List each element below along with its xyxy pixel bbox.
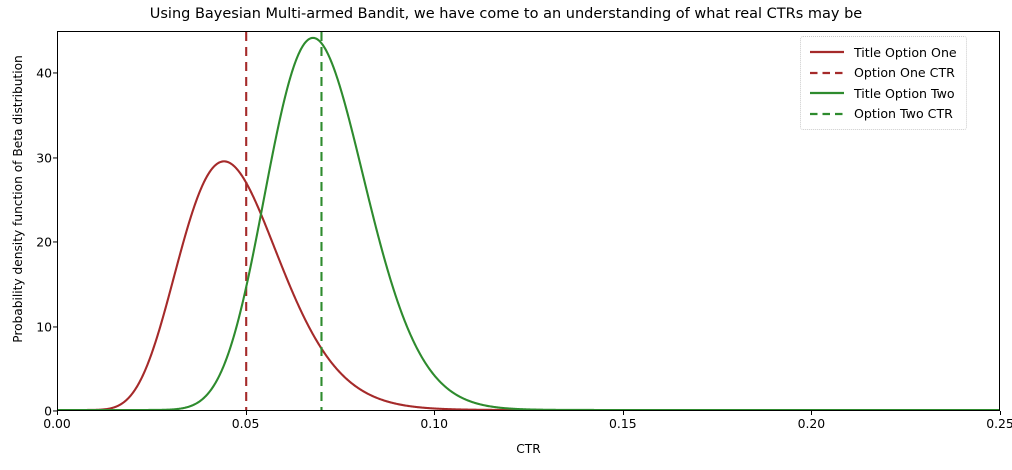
legend-line-icon: [809, 46, 845, 58]
legend-item-label: Title Option Two: [854, 86, 955, 101]
curve-title-option-one: [58, 161, 999, 410]
figure-canvas: Using Bayesian Multi-armed Bandit, we ha…: [0, 0, 1012, 470]
legend-item-label: Title Option One: [854, 45, 957, 60]
x-tick-mark: [434, 411, 435, 415]
x-tick-label: 0.05: [206, 416, 286, 431]
y-tick-label: 10: [0, 319, 52, 334]
y-tick-label: 20: [0, 235, 52, 250]
x-tick-mark: [811, 411, 812, 415]
chart-title: Using Bayesian Multi-armed Bandit, we ha…: [0, 6, 1012, 22]
x-tick-mark: [1000, 411, 1001, 415]
x-tick-label: 0.20: [771, 416, 851, 431]
legend-line-icon: [809, 108, 845, 120]
x-tick-mark: [246, 411, 247, 415]
y-tick-mark: [53, 326, 57, 327]
legend-item[interactable]: Title Option One: [809, 42, 957, 63]
y-tick-label: 40: [0, 66, 52, 81]
x-tick-label: 0.10: [394, 416, 474, 431]
chart-legend[interactable]: Title Option OneOption One CTRTitle Opti…: [800, 36, 967, 130]
y-tick-mark: [53, 157, 57, 158]
legend-item-label: Option Two CTR: [854, 106, 953, 121]
y-axis-label: Probability density function of Beta dis…: [11, 0, 25, 399]
legend-line-icon: [809, 87, 845, 99]
y-tick-label: 30: [0, 150, 52, 165]
x-tick-mark: [623, 411, 624, 415]
x-tick-label: 0.25: [960, 416, 1012, 431]
x-tick-label: 0.00: [17, 416, 97, 431]
legend-item[interactable]: Title Option Two: [809, 83, 957, 104]
x-tick-mark: [57, 411, 58, 415]
y-tick-mark: [53, 73, 57, 74]
legend-line-icon: [809, 67, 845, 79]
legend-item[interactable]: Option One CTR: [809, 63, 957, 84]
x-axis-label: CTR: [57, 442, 1000, 456]
legend-item[interactable]: Option Two CTR: [809, 104, 957, 125]
x-tick-label: 0.15: [583, 416, 663, 431]
legend-item-label: Option One CTR: [854, 65, 955, 80]
y-tick-mark: [53, 242, 57, 243]
